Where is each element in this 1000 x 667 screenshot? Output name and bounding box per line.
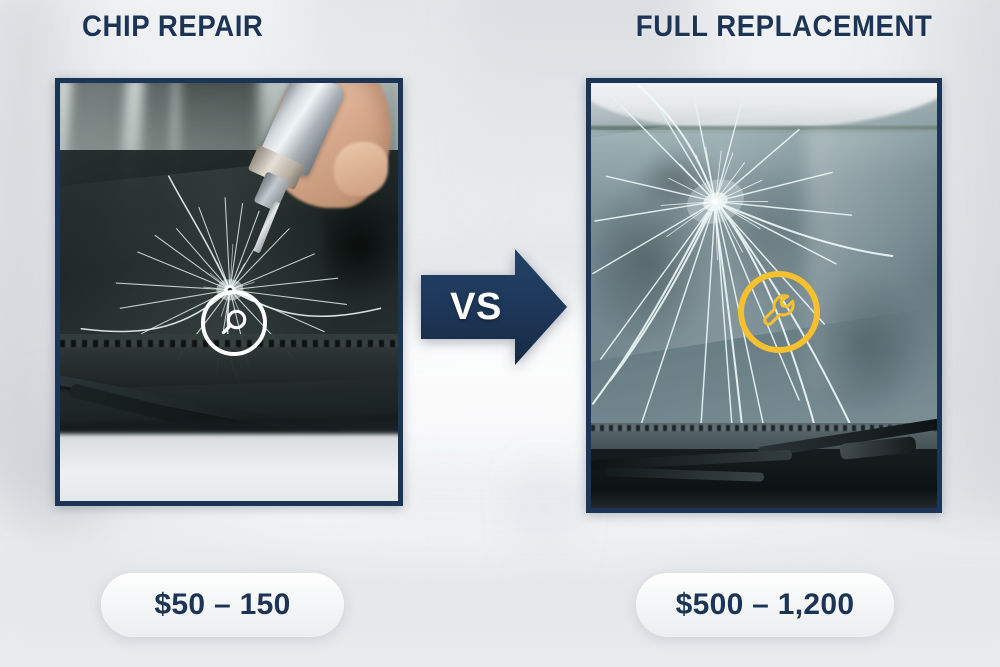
left-section-title: CHIP REPAIR [82, 10, 263, 44]
magnifier-glyph [214, 303, 254, 343]
background-car-emblem [540, 480, 550, 566]
photo-right-glass-sheen-corner [806, 126, 937, 390]
comparison-infographic: CHIP REPAIR FULL REPLACEMENT [0, 0, 1000, 667]
versus-arrow-icon [421, 249, 567, 365]
magnifier-icon [201, 290, 267, 356]
photo-left-thumb [334, 142, 388, 196]
right-section-title: FULL REPLACEMENT [635, 10, 932, 44]
full-replacement-price-badge: $500 – 1,200 [636, 573, 894, 637]
photo-left-car-hood [60, 434, 398, 501]
wrench-icon [738, 271, 820, 353]
wrench-glyph [755, 288, 803, 336]
chip-repair-price-badge: $50 – 150 [101, 573, 344, 637]
